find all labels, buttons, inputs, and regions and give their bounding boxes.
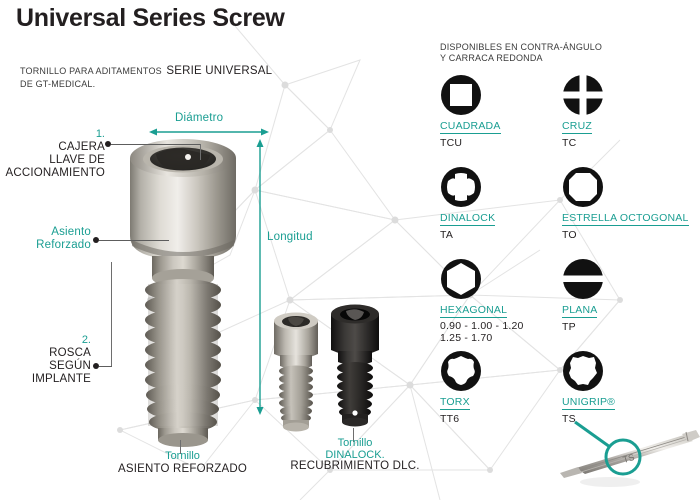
driver-name-unigrip: UNIGRIP® bbox=[562, 396, 615, 410]
driver-code-plana: TP bbox=[562, 321, 682, 333]
leader-line-cajera-drop bbox=[200, 144, 201, 160]
driver-tool-illustration: TS bbox=[552, 420, 700, 500]
callout-asiento-line2: Reforzado bbox=[0, 239, 91, 252]
callout-rosca-line2: SEGÚN bbox=[0, 360, 91, 373]
square-socket-icon bbox=[440, 74, 482, 116]
driver-item-dinalock[interactable]: DINALOCK TA bbox=[440, 166, 560, 241]
intro-series-name: SERIE UNIVERSAL bbox=[166, 65, 272, 77]
callout-cajera-number: 1. bbox=[0, 128, 105, 141]
hexagon-socket-icon bbox=[440, 258, 482, 300]
flat-slot-socket-icon bbox=[562, 258, 604, 300]
small-dlc-screw-illustration bbox=[325, 300, 385, 436]
tool-highlight-pointer bbox=[575, 422, 610, 447]
length-label: Longitud bbox=[267, 231, 313, 243]
intro-line1-small: TORNILLO PARA ADITAMENTOS bbox=[20, 66, 162, 76]
leader-line-asiento bbox=[99, 240, 169, 241]
length-arrow bbox=[254, 138, 266, 416]
callout-cajera-line2: LLAVE DE bbox=[0, 154, 105, 167]
driver-item-cruz[interactable]: CRUZ TC bbox=[562, 74, 682, 149]
driver-name-dinalock: DINALOCK bbox=[440, 212, 495, 226]
driver-code-torx: TT6 bbox=[440, 413, 560, 425]
driver-name-plana: PLANA bbox=[562, 304, 597, 318]
diameter-arrow bbox=[148, 126, 270, 138]
infographic-canvas: Universal Series Screw TORNILLO PARA ADI… bbox=[0, 0, 700, 500]
driver-code-cuadrada: TCU bbox=[440, 137, 560, 149]
caption-dlc-bottom: RECUBRIMIENTO DLC. bbox=[285, 461, 425, 473]
callout-asiento-reforzado: Asiento Reforzado bbox=[0, 226, 91, 252]
caption-main-screw-top: Tornillo bbox=[110, 450, 255, 463]
driver-name-torx: TORX bbox=[440, 396, 470, 410]
driver-item-estrella-octogonal[interactable]: ESTRELLA OCTOGONAL TO bbox=[562, 166, 697, 241]
driver-code-estrella-octogonal: TO bbox=[562, 229, 697, 241]
callout-cajera-line1: CAJERA bbox=[0, 141, 105, 154]
leader-dot-cajera bbox=[105, 141, 111, 147]
leader-dot-rosca bbox=[93, 363, 99, 369]
driver-name-cuadrada: CUADRADA bbox=[440, 120, 501, 134]
bracket-rosca bbox=[111, 262, 112, 367]
callout-rosca-line1: ROSCA bbox=[0, 347, 91, 360]
intro-text: TORNILLO PARA ADITAMENTOS SERIE UNIVERSA… bbox=[20, 64, 272, 90]
driver-name-cruz: CRUZ bbox=[562, 120, 592, 134]
callout-rosca-line3: IMPLANTE bbox=[0, 373, 91, 386]
driver-item-hexagonal[interactable]: HEXAGONAL 0.90 - 1.00 - 1.20 1.25 - 1.70 bbox=[440, 258, 560, 344]
callout-asiento-line1: Asiento bbox=[0, 226, 91, 239]
leader-line-cajera bbox=[111, 144, 201, 145]
intro-line2: DE GT-MEDICAL. bbox=[20, 78, 272, 90]
caption-dlc-screw: Tornillo DINALOCK. RECUBRIMIENTO DLC. bbox=[285, 438, 425, 473]
driver-item-cuadrada[interactable]: CUADRADA TCU bbox=[440, 74, 560, 149]
small-silver-screw-illustration bbox=[268, 308, 324, 436]
driver-code-hexagonal: 0.90 - 1.00 - 1.20 1.25 - 1.70 bbox=[440, 321, 560, 344]
callout-rosca: 2. ROSCA SEGÚN IMPLANTE bbox=[0, 334, 91, 386]
drivers-header-line1: DISPONIBLES EN CONTRA-ÁNGULO bbox=[440, 42, 602, 53]
driver-item-torx[interactable]: TORX TT6 bbox=[440, 350, 560, 425]
driver-code-cruz: TC bbox=[562, 137, 682, 149]
driver-code-hexagonal-line2: 1.25 - 1.70 bbox=[440, 333, 560, 345]
driver-code-hexagonal-line1: 0.90 - 1.00 - 1.20 bbox=[440, 321, 560, 333]
caption-dlc-top: Tornillo bbox=[285, 438, 425, 450]
leader-dot-asiento bbox=[93, 237, 99, 243]
callout-cajera: 1. CAJERA LLAVE DE ACCIONAMIENTO bbox=[0, 128, 105, 180]
diameter-label: Diámetro bbox=[175, 112, 223, 124]
caption-main-screw: Tornillo ASIENTO REFORZADO bbox=[110, 450, 255, 475]
driver-code-dinalock: TA bbox=[440, 229, 560, 241]
driver-name-hexagonal: HEXAGONAL bbox=[440, 304, 507, 318]
main-screw-illustration bbox=[118, 128, 248, 448]
octagon-socket-icon bbox=[562, 166, 604, 208]
driver-item-plana[interactable]: PLANA TP bbox=[562, 258, 682, 333]
callout-cajera-line3: ACCIONAMIENTO bbox=[0, 167, 105, 180]
driver-item-unigrip[interactable]: UNIGRIP® TS bbox=[562, 350, 682, 425]
caption-main-screw-bottom: ASIENTO REFORZADO bbox=[110, 463, 255, 476]
torx-socket-icon bbox=[440, 350, 482, 392]
drivers-panel-header: DISPONIBLES EN CONTRA-ÁNGULO Y CARRACA R… bbox=[440, 42, 602, 64]
callout-rosca-number: 2. bbox=[0, 334, 91, 347]
unigrip-socket-icon bbox=[562, 350, 604, 392]
cross-socket-icon bbox=[562, 74, 604, 116]
leader-line-rosca bbox=[99, 366, 112, 367]
driver-name-estrella-octogonal: ESTRELLA OCTOGONAL bbox=[562, 212, 689, 226]
dinalock-socket-icon bbox=[440, 166, 482, 208]
drivers-header-line2: Y CARRACA REDONDA bbox=[440, 53, 602, 64]
page-title: Universal Series Screw bbox=[16, 4, 285, 33]
